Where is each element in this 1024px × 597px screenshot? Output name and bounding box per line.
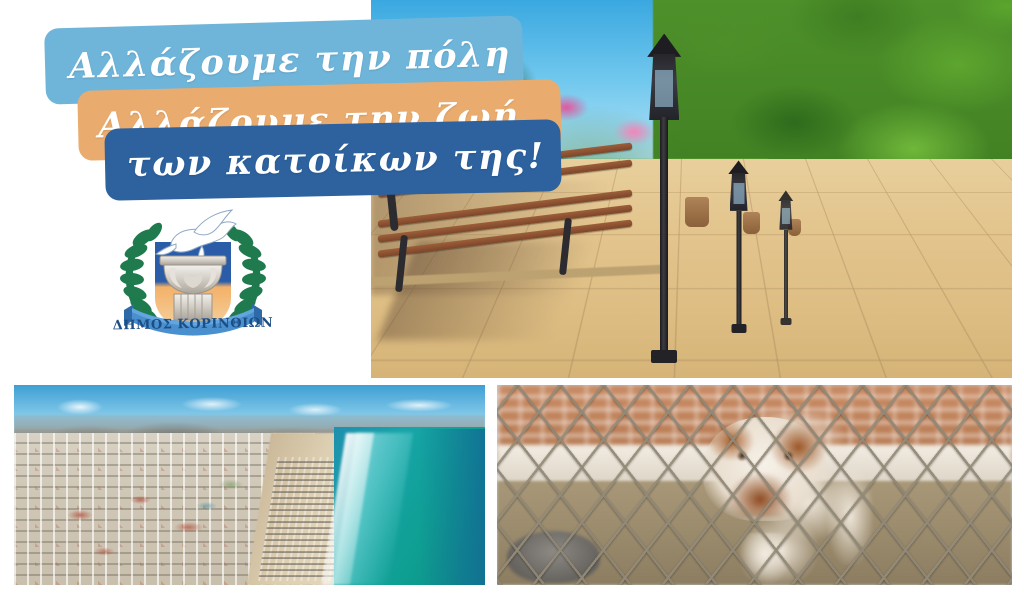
photo-coast: [14, 385, 485, 585]
bench-leg: [395, 234, 408, 292]
bench-leg: [559, 218, 572, 276]
poster-canvas: Αλλάζουμε την πόλη Αλλάζουμε την ζωή των…: [0, 0, 1024, 597]
coast-scene: [14, 385, 485, 585]
street-lamp: [775, 189, 797, 325]
planter-pot: [685, 197, 709, 227]
deep-water: [419, 429, 485, 585]
logo-dimos-korinthion: ΔΗΜΟΣ ΚΟΡΙΝΘΙΩΝ: [98, 198, 288, 353]
logo-banner-text: ΔΗΜΟΣ ΚΟΡΙΝΘΙΩΝ: [113, 316, 274, 334]
street-lamp: [640, 30, 688, 363]
shelter-dog-scene: [497, 385, 1012, 585]
photo-dog: [497, 385, 1012, 585]
street-lamp: [724, 159, 754, 333]
chain-link-fence: [497, 385, 1012, 585]
slogan-banner-line3: των κατοίκων της!: [104, 119, 561, 201]
